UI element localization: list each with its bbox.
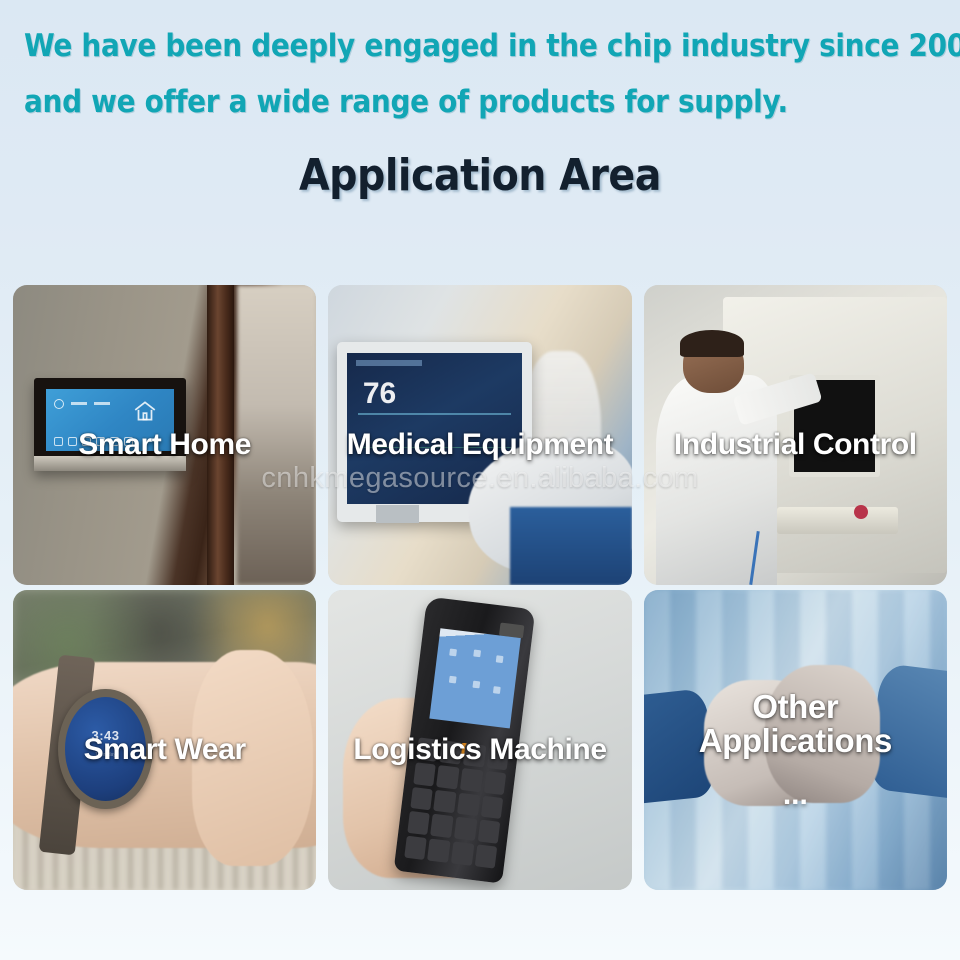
key <box>407 811 430 835</box>
scanner-screen <box>430 629 521 729</box>
machine-keyboard <box>777 507 898 534</box>
header-section: We have been deeply engaged in the chip … <box>0 0 960 201</box>
key <box>451 842 474 866</box>
technician-hair <box>680 330 744 357</box>
time-readout <box>94 402 110 405</box>
screen-icon-3 <box>496 656 504 664</box>
tile-logistics-machine[interactable]: Logistics Machine <box>328 590 631 890</box>
screen-icon-2 <box>474 649 482 657</box>
tagline-line-2: and we offer a wide range of products fo… <box>0 74 960 130</box>
screen-icon-4 <box>449 676 457 684</box>
ecg-waveform <box>358 413 512 415</box>
tile-industrial-control[interactable]: Industrial Control <box>644 285 947 585</box>
temperature-readout <box>71 402 87 405</box>
key <box>428 839 451 863</box>
tile-label-smart-wear: Smart Wear <box>13 734 316 765</box>
key <box>410 787 433 811</box>
tile-smart-home[interactable]: Smart Home <box>13 285 316 585</box>
other-label-line-1: Other <box>752 688 838 725</box>
key <box>437 765 460 789</box>
tile-label-industrial-control: Industrial Control <box>644 429 947 460</box>
monitor-topbar <box>356 360 422 366</box>
key <box>460 768 483 792</box>
page-title: Application Area <box>0 150 960 201</box>
tile-label-logistics-machine: Logistics Machine <box>328 734 631 765</box>
other-label-line-2: Applications <box>699 722 892 759</box>
tile-smart-wear[interactable]: 3:43 Thursday Smart Wear <box>13 590 316 890</box>
key <box>475 845 498 869</box>
monitor-bpm-value: 76 <box>363 377 396 411</box>
key <box>484 771 507 795</box>
key <box>454 817 477 841</box>
home-icon <box>132 398 158 424</box>
screen-icon-5 <box>473 680 481 688</box>
key <box>481 795 504 819</box>
monitor-stand <box>376 505 419 523</box>
application-area-grid: Smart Home 76 Medical Equipment <box>13 285 947 890</box>
screen-icon-1 <box>449 648 457 656</box>
key <box>404 836 427 860</box>
tile-label-other-applications: Other Applications <box>644 690 947 759</box>
key <box>431 814 454 838</box>
tagline-line-1: We have been deeply engaged in the chip … <box>0 18 960 74</box>
tile-medical-equipment[interactable]: 76 Medical Equipment <box>328 285 631 585</box>
screen-icon-6 <box>493 687 501 695</box>
weather-icon <box>54 399 64 409</box>
tile-label-medical-equipment: Medical Equipment <box>328 429 631 460</box>
blue-scrubs <box>510 507 631 585</box>
key <box>434 789 457 813</box>
tile-other-applications[interactable]: Other Applications ... <box>644 590 947 890</box>
panel-status-row <box>54 399 110 409</box>
key <box>457 792 480 816</box>
key <box>478 820 501 844</box>
other-label-ellipsis: ... <box>644 778 947 812</box>
tile-label-smart-home: Smart Home <box>13 429 316 460</box>
